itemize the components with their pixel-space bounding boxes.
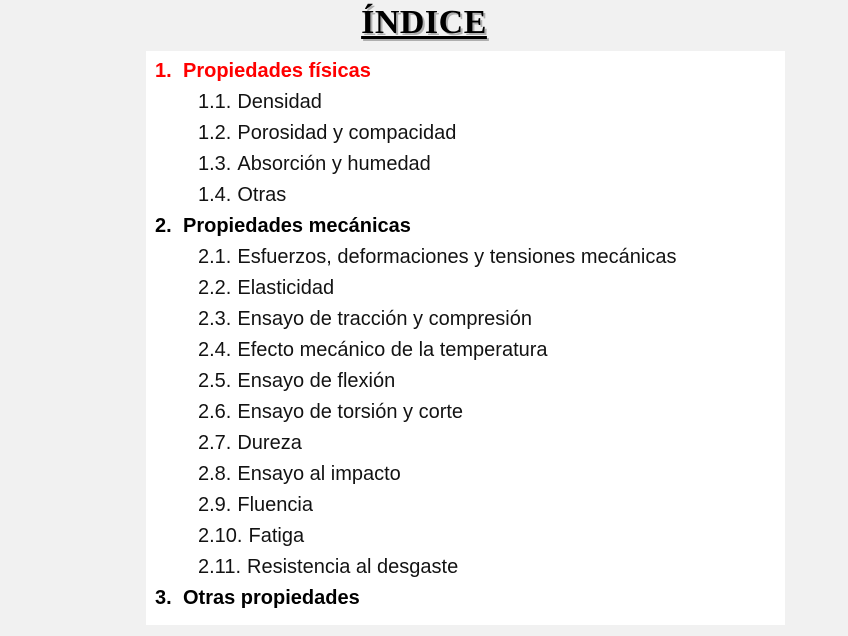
toc-item-label: Propiedades mecánicas	[183, 211, 411, 242]
toc-subsection-item[interactable]: 2.10.Fatiga	[146, 521, 785, 552]
content-panel: 1.Propiedades físicas1.1.Densidad1.2.Por…	[146, 51, 785, 625]
toc-subsection-item[interactable]: 2.2.Elasticidad	[146, 273, 785, 304]
toc-subsection-item[interactable]: 1.1.Densidad	[146, 87, 785, 118]
toc-item-number: 2.10.	[198, 521, 242, 552]
toc-item-label: Fatiga	[248, 521, 304, 552]
toc-section-item[interactable]: 1.Propiedades físicas	[146, 56, 785, 87]
toc-subsection-item[interactable]: 2.8.Ensayo al impacto	[146, 459, 785, 490]
toc-item-label: Efecto mecánico de la temperatura	[237, 335, 547, 366]
toc-item-number: 1.	[155, 56, 183, 87]
toc-item-number: 1.4.	[198, 180, 231, 211]
toc-item-number: 2.8.	[198, 459, 231, 490]
toc-item-number: 2.1.	[198, 242, 231, 273]
toc-item-label: Ensayo de torsión y corte	[237, 397, 463, 428]
toc-subsection-item[interactable]: 2.3.Ensayo de tracción y compresión	[146, 304, 785, 335]
toc-subsection-item[interactable]: 2.6.Ensayo de torsión y corte	[146, 397, 785, 428]
toc-item-label: Otras propiedades	[183, 583, 360, 614]
toc-item-label: Esfuerzos, deformaciones y tensiones mec…	[237, 242, 676, 273]
toc-subsection-item[interactable]: 2.1.Esfuerzos, deformaciones y tensiones…	[146, 242, 785, 273]
toc-item-number: 1.1.	[198, 87, 231, 118]
toc-item-label: Elasticidad	[237, 273, 334, 304]
toc-item-label: Dureza	[237, 428, 301, 459]
toc-subsection-item[interactable]: 2.11.Resistencia al desgaste	[146, 552, 785, 583]
toc-subsection-item[interactable]: 1.4.Otras	[146, 180, 785, 211]
slide-canvas: ÍNDICE 1.Propiedades físicas1.1.Densidad…	[0, 0, 848, 636]
toc-item-number: 2.	[155, 211, 183, 242]
toc-item-number: 3.	[155, 583, 183, 614]
toc-item-number: 2.3.	[198, 304, 231, 335]
toc-subsection-item[interactable]: 2.4.Efecto mecánico de la temperatura	[146, 335, 785, 366]
title-area: ÍNDICE	[0, 0, 848, 46]
table-of-contents: 1.Propiedades físicas1.1.Densidad1.2.Por…	[146, 56, 785, 614]
toc-subsection-item[interactable]: 2.7.Dureza	[146, 428, 785, 459]
toc-item-number: 1.3.	[198, 149, 231, 180]
toc-item-number: 1.2.	[198, 118, 231, 149]
toc-subsection-item[interactable]: 1.3.Absorción y humedad	[146, 149, 785, 180]
toc-section-item[interactable]: 2.Propiedades mecánicas	[146, 211, 785, 242]
toc-item-number: 2.5.	[198, 366, 231, 397]
toc-item-number: 2.11.	[198, 552, 241, 583]
toc-item-number: 2.2.	[198, 273, 231, 304]
toc-item-label: Fluencia	[237, 490, 313, 521]
toc-item-number: 2.6.	[198, 397, 231, 428]
toc-item-label: Ensayo al impacto	[237, 459, 400, 490]
toc-subsection-item[interactable]: 2.9.Fluencia	[146, 490, 785, 521]
toc-item-label: Ensayo de flexión	[237, 366, 395, 397]
toc-item-label: Otras	[237, 180, 286, 211]
toc-item-label: Propiedades físicas	[183, 56, 371, 87]
toc-item-label: Resistencia al desgaste	[247, 552, 458, 583]
toc-item-label: Densidad	[237, 87, 322, 118]
toc-item-number: 2.9.	[198, 490, 231, 521]
toc-item-number: 2.4.	[198, 335, 231, 366]
toc-item-label: Ensayo de tracción y compresión	[237, 304, 532, 335]
page-title: ÍNDICE	[361, 4, 487, 42]
toc-item-label: Porosidad y compacidad	[237, 118, 456, 149]
toc-item-number: 2.7.	[198, 428, 231, 459]
toc-subsection-item[interactable]: 1.2.Porosidad y compacidad	[146, 118, 785, 149]
toc-section-item[interactable]: 3.Otras propiedades	[146, 583, 785, 614]
toc-subsection-item[interactable]: 2.5.Ensayo de flexión	[146, 366, 785, 397]
toc-item-label: Absorción y humedad	[237, 149, 430, 180]
